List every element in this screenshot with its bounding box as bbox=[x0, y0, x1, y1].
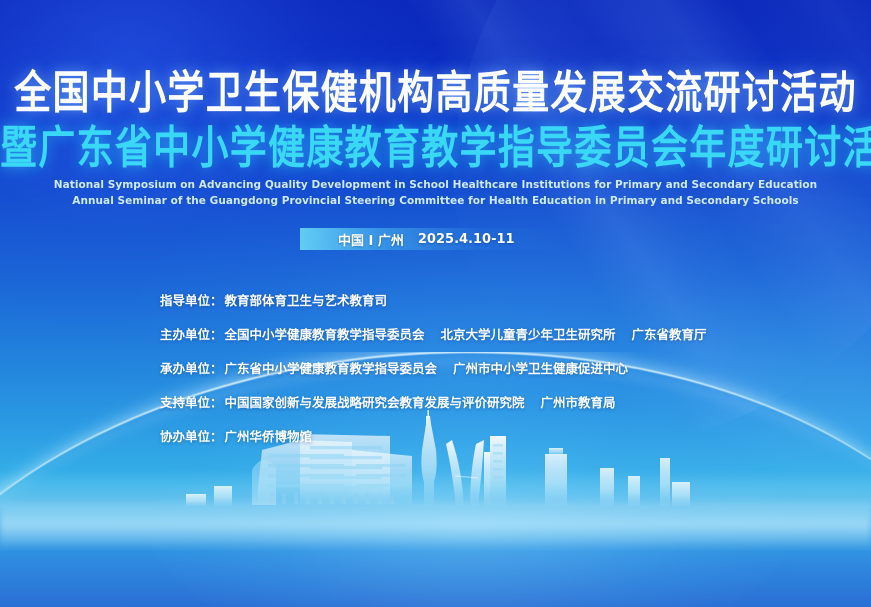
organization-label: 协办单位： bbox=[160, 426, 223, 445]
tower-block-e bbox=[672, 482, 690, 506]
organization-row: 主办单位： 全国中小学健康教育教学指导委员会 北京大学儿童青少年卫生研究所 广东… bbox=[160, 324, 820, 343]
tower-block-d bbox=[660, 458, 670, 506]
organization-label: 主办单位： bbox=[160, 324, 223, 343]
tower-block-f bbox=[214, 486, 232, 506]
poster-title-block: 全国中小学卫生保健机构高质量发展交流研讨活动 暨广东省中小学健康教育教学指导委员… bbox=[0, 70, 871, 162]
poster-subtitle-block: National Symposium on Advancing Quality … bbox=[0, 178, 871, 210]
tower-block-b bbox=[600, 468, 614, 506]
organization-value: 教育部体育卫生与艺术教育司 bbox=[225, 290, 388, 309]
organization-value: 广州市教育局 bbox=[541, 392, 616, 411]
organization-value: 广东省教育厅 bbox=[632, 324, 707, 343]
organization-row: 指导单位： 教育部体育卫生与艺术教育司 bbox=[160, 290, 820, 309]
organization-value: 中国国家创新与发展战略研究会教育发展与评价研究院 bbox=[225, 392, 525, 411]
event-location-date-badge: 中国 I 广州 2025.4.10-11 bbox=[300, 228, 565, 250]
arc-haze bbox=[0, 470, 871, 550]
subtitle-english-line-1: National Symposium on Advancing Quality … bbox=[0, 178, 871, 194]
tower-block-g bbox=[186, 494, 206, 506]
organization-row: 支持单位： 中国国家创新与发展战略研究会教育发展与评价研究院 广州市教育局 bbox=[160, 392, 820, 411]
organization-value: 北京大学儿童青少年卫生研究所 bbox=[441, 324, 616, 343]
conference-poster: 全国中小学卫生保健机构高质量发展交流研讨活动 暨广东省中小学健康教育教学指导委员… bbox=[0, 0, 871, 607]
organization-value: 全国中小学健康教育教学指导委员会 bbox=[225, 324, 425, 343]
organization-value: 广州华侨博物馆 bbox=[225, 426, 313, 445]
organization-row: 承办单位： 广东省中小学健康教育教学指导委员会 广州市中小学卫生健康促进中心 bbox=[160, 358, 820, 377]
subtitle-english-line-2: Annual Seminar of the Guangdong Provinci… bbox=[0, 194, 871, 210]
tower-block-a bbox=[545, 454, 567, 506]
cityscape-haze bbox=[0, 499, 871, 545]
event-date: 2025.4.10-11 bbox=[418, 232, 515, 247]
tower-block-c bbox=[628, 476, 640, 506]
organization-value: 广东省中小学健康教育教学指导委员会 bbox=[225, 358, 438, 377]
organization-label: 承办单位： bbox=[160, 358, 223, 377]
page-title-primary: 全国中小学卫生保健机构高质量发展交流研讨活动 bbox=[0, 70, 871, 115]
page-title-secondary: 暨广东省中小学健康教育教学指导委员会年度研讨活动 bbox=[0, 125, 871, 170]
organization-label: 支持单位： bbox=[160, 392, 223, 411]
organization-value: 广州市中小学卫生健康促进中心 bbox=[453, 358, 628, 377]
event-location: 中国 I 广州 bbox=[338, 230, 404, 249]
organizations-list: 指导单位： 教育部体育卫生与艺术教育司 主办单位： 全国中小学健康教育教学指导委… bbox=[160, 290, 820, 460]
organization-label: 指导单位： bbox=[160, 290, 223, 309]
organization-row: 协办单位： 广州华侨博物馆 bbox=[160, 426, 820, 445]
